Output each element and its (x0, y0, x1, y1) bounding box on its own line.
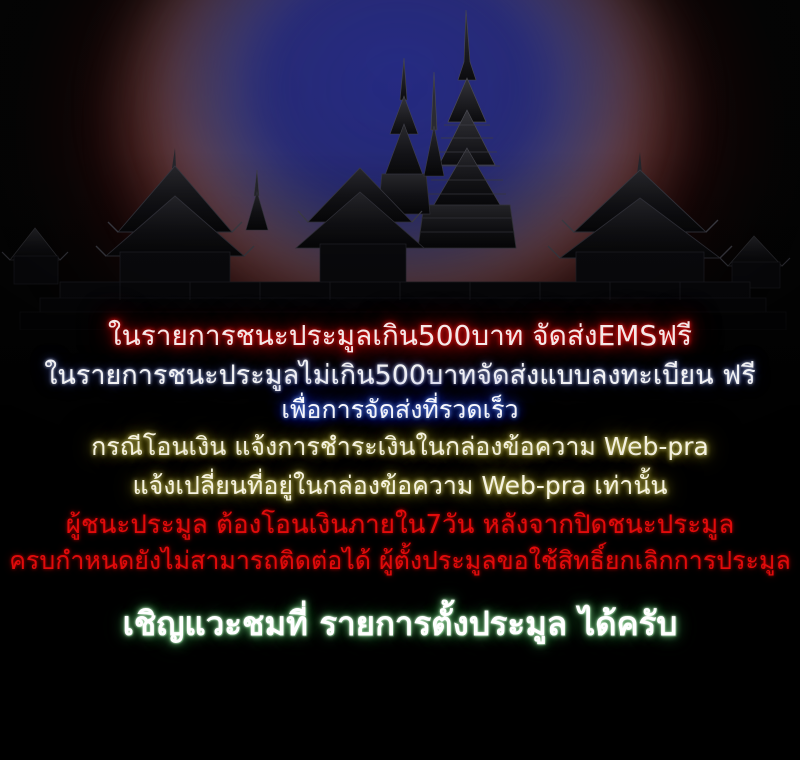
terms-text-block: ในรายการชนะประมูลเกิน500บาท จัดส่งEMSฟรี… (0, 318, 800, 640)
terms-line-shipping-free-ems: ในรายการชนะประมูลเกิน500บาท จัดส่งEMSฟรี (0, 322, 800, 350)
auction-terms-banner: ในรายการชนะประมูลเกิน500บาท จัดส่งEMSฟรี… (0, 0, 800, 760)
terms-line-visit-invitation: เชิญแวะชมที่ รายการตั้งประมูล ได้ครับ (0, 607, 800, 640)
terms-line-cancel-right: ครบกำหนดยังไม่สามารถติดต่อได้ ผู้ตั้งประ… (0, 548, 800, 573)
terms-line-shipping-registered: ในรายการชนะประมูลไม่เกิน500บาทจัดส่งแบบล… (0, 362, 800, 389)
terms-line-fast-delivery: เพื่อการจัดส่งที่รวดเร็ว (0, 397, 800, 422)
terms-line-address-change-notify: แจ้งเปลี่ยนที่อยู่ในกล่องข้อความ Web-pra… (0, 473, 800, 498)
terms-line-payment-notify: กรณีโอนเงิน แจ้งการชำระเงินในกล่องข้อควา… (0, 434, 800, 459)
terms-line-transfer-within-7-days: ผู้ชนะประมูล ต้องโอนเงินภายใน7วัน หลังจา… (0, 512, 800, 538)
